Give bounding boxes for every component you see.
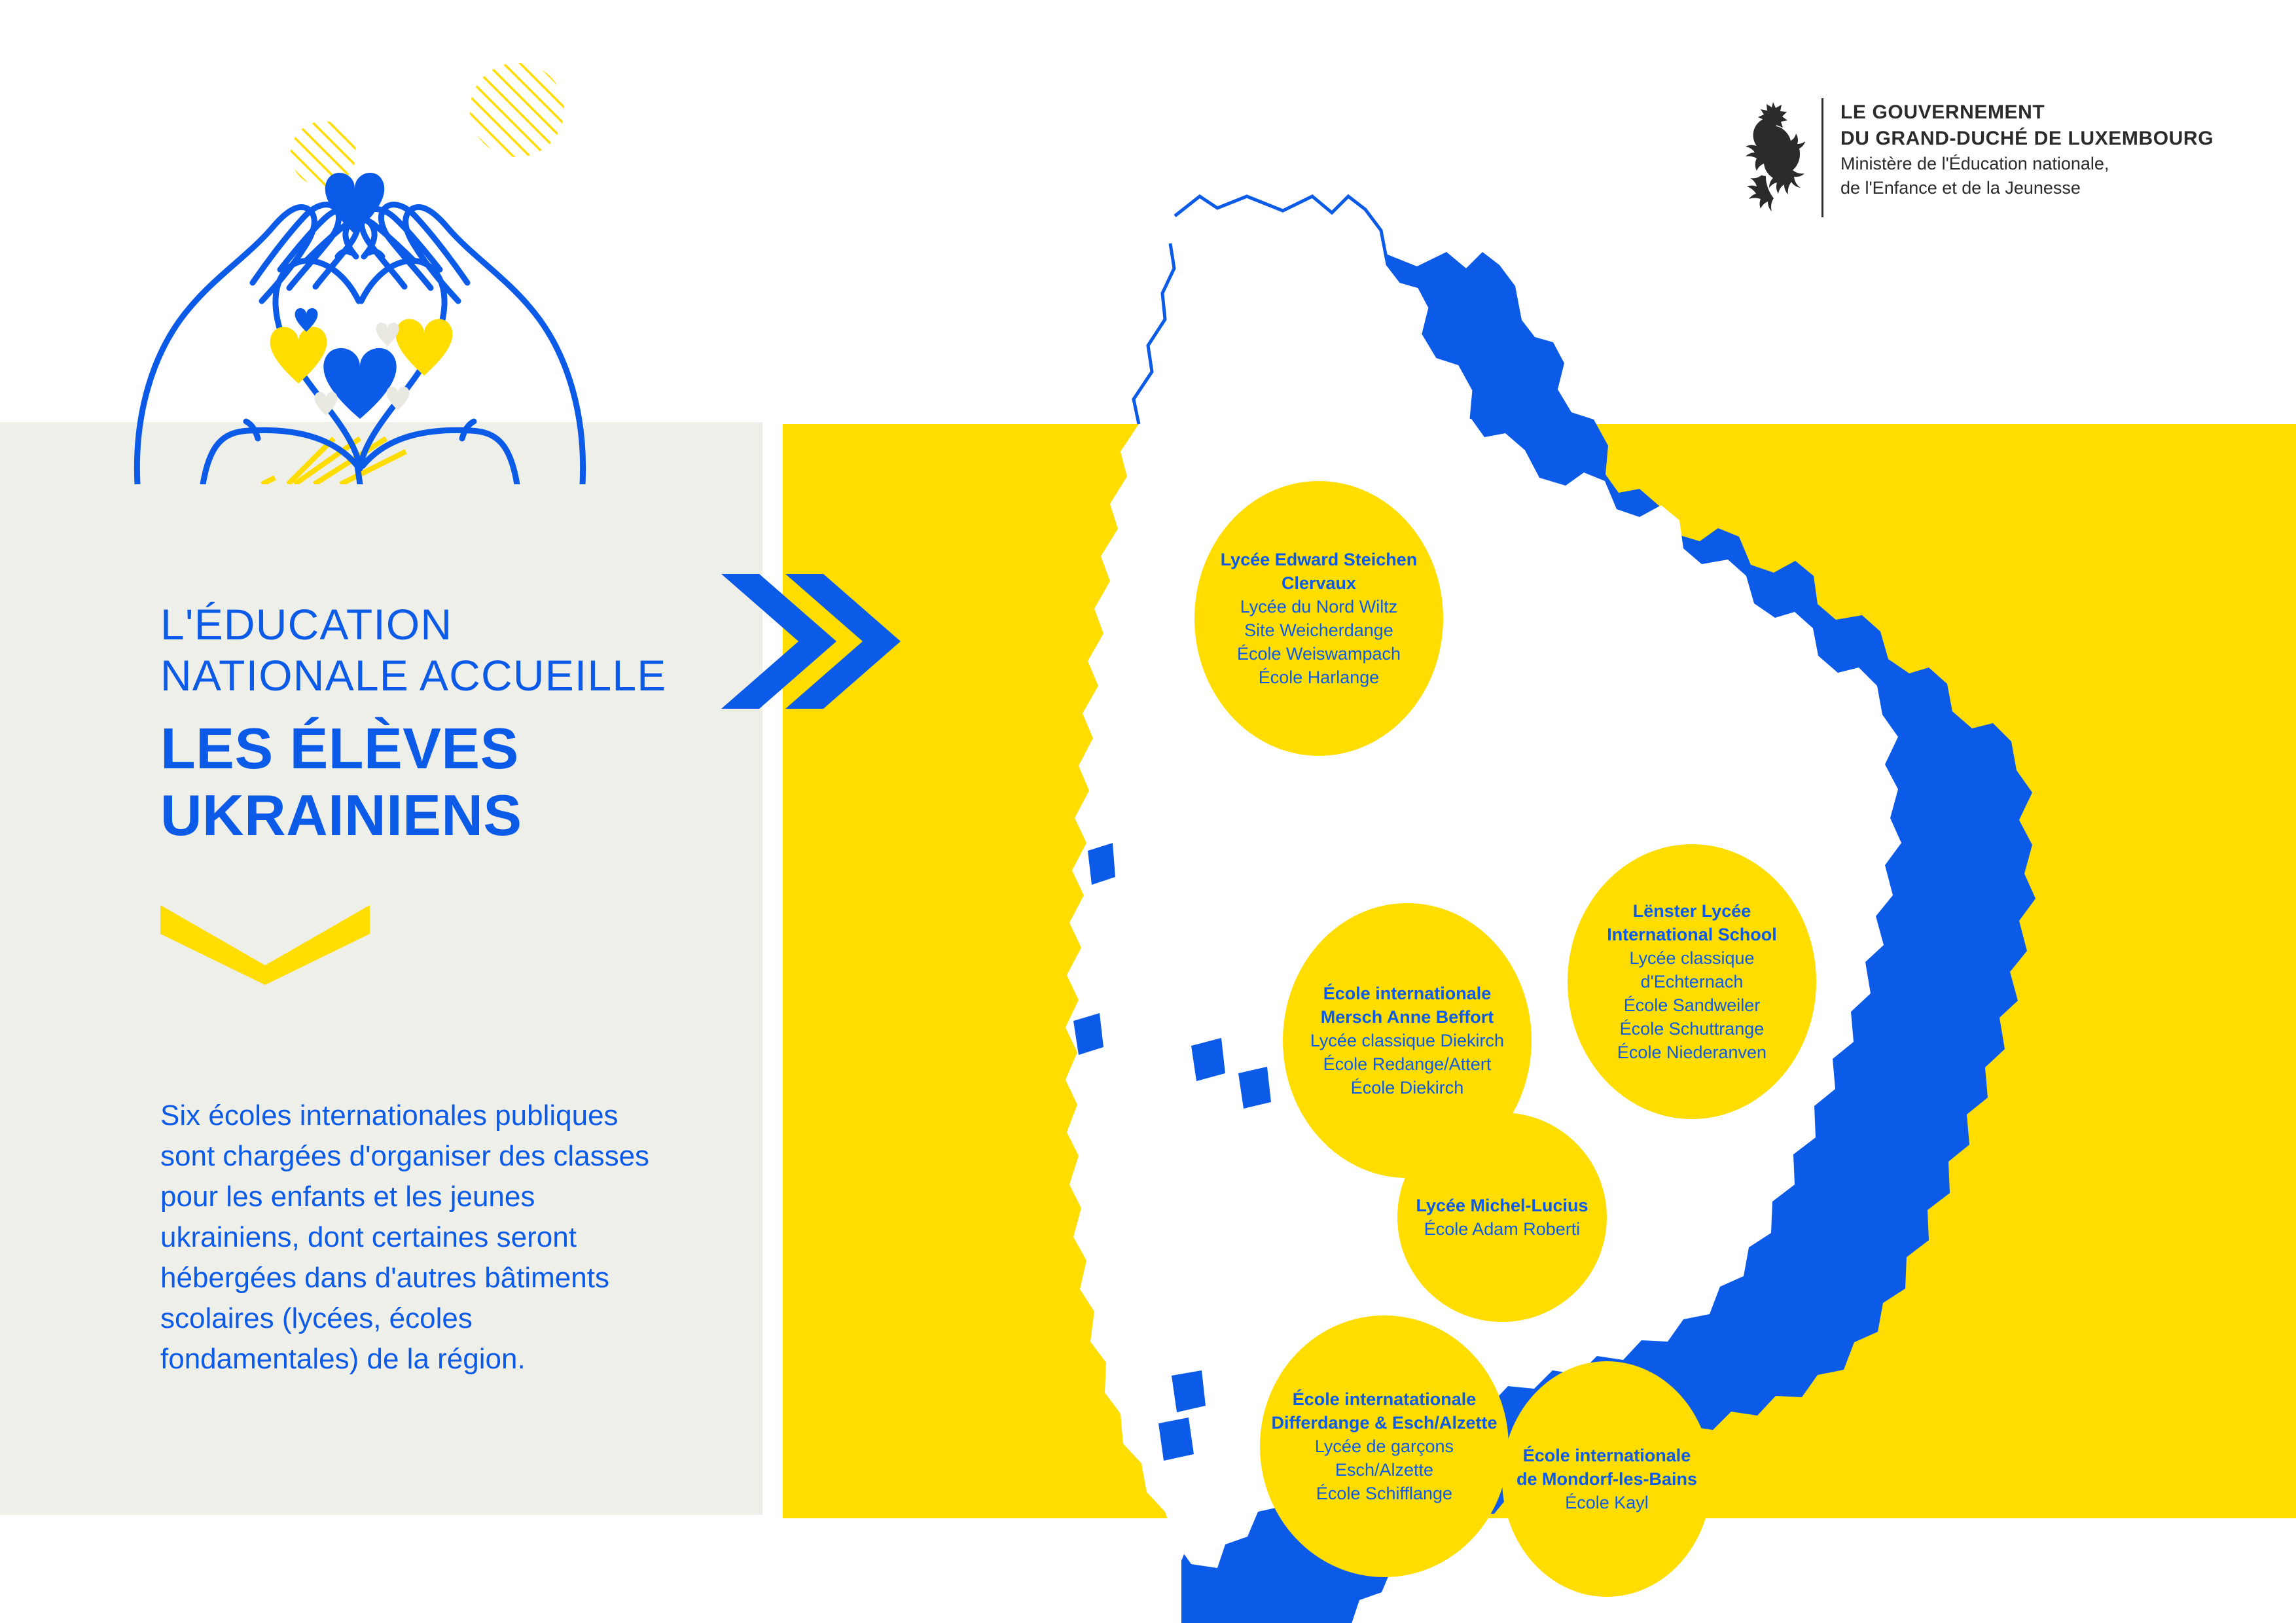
lion-rampant-crest-icon	[1738, 98, 1810, 216]
bubble-school-item: École Diekirch	[1292, 1076, 1522, 1099]
bubble-school-item: École Schuttrange	[1577, 1017, 1807, 1041]
bubble-title-line: Clervaux	[1204, 571, 1434, 595]
school-bubble-differdange[interactable]: École internatationale Differdange & Esc…	[1260, 1315, 1509, 1577]
bubble-title-line: Mersch Anne Beffort	[1292, 1005, 1522, 1029]
bubble-title-line: Lycée Edward Steichen	[1204, 548, 1434, 571]
poster-root: L'ÉDUCATION NATIONALE ACCUEILLE LES ÉLÈV…	[0, 0, 2296, 1623]
bubble-title-line: Lënster Lycée	[1577, 899, 1807, 923]
bubble-school-item: École Sandweiler	[1577, 993, 1807, 1017]
logo-line-2: DU GRAND-DUCHÉ DE LUXEMBOURG	[1840, 126, 2214, 152]
logo-line-1: LE GOUVERNEMENT	[1840, 99, 2214, 126]
logo-line-4: de l'Enfance et de la Jeunesse	[1840, 176, 2214, 200]
school-bubble-michel-lucius[interactable]: Lycée Michel-Lucius École Adam Roberti	[1397, 1113, 1607, 1322]
bubble-title-line: Differdange & Esch/Alzette	[1269, 1411, 1499, 1435]
logo-line-3: Ministère de l'Éducation nationale,	[1840, 152, 2214, 176]
bubble-title-line: École internationale	[1292, 982, 1522, 1005]
bubble-title-line: International School	[1577, 923, 1807, 946]
bubble-title-line: École internatationale	[1269, 1387, 1499, 1411]
bubble-school-item: École Redange/Attert	[1292, 1052, 1522, 1076]
bubble-school-item: École Niederanven	[1577, 1041, 1807, 1064]
bubble-school-item: École Weiswampach	[1204, 642, 1434, 666]
bubble-school-item: Lycée de garçons Esch/Alzette	[1269, 1435, 1499, 1482]
logo-divider-rule	[1821, 98, 1823, 217]
bubble-school-item: École Harlange	[1204, 666, 1434, 689]
school-bubble-lenster[interactable]: Lënster Lycée International School Lycée…	[1568, 844, 1816, 1119]
bubble-school-item: Lycée du Nord Wiltz	[1204, 595, 1434, 618]
map-area	[0, 0, 2296, 1623]
school-bubble-clervaux[interactable]: Lycée Edward Steichen Clervaux Lycée du …	[1194, 481, 1443, 756]
bubble-title-line: de Mondorf-les-Bains	[1511, 1467, 1702, 1491]
bubble-school-item: Lycée classique Diekirch	[1292, 1029, 1522, 1052]
bubble-school-item: Lycée classique d'Echternach	[1577, 946, 1807, 993]
bubble-school-item: Site Weicherdange	[1204, 618, 1434, 642]
school-bubble-mondorf[interactable]: École internationale de Mondorf-les-Bain…	[1502, 1361, 1712, 1597]
bubble-title-line: Lycée Michel-Lucius	[1407, 1194, 1598, 1217]
bubble-school-item: École Kayl	[1511, 1491, 1702, 1514]
double-chevron-right-arrow	[713, 566, 923, 717]
bubble-title-line: École internationale	[1511, 1444, 1702, 1467]
bubble-school-item: École Schifflange	[1269, 1482, 1499, 1505]
government-logo: LE GOUVERNEMENT DU GRAND-DUCHÉ DE LUXEMB…	[1738, 98, 2214, 217]
bubble-school-item: École Adam Roberti	[1407, 1217, 1598, 1241]
